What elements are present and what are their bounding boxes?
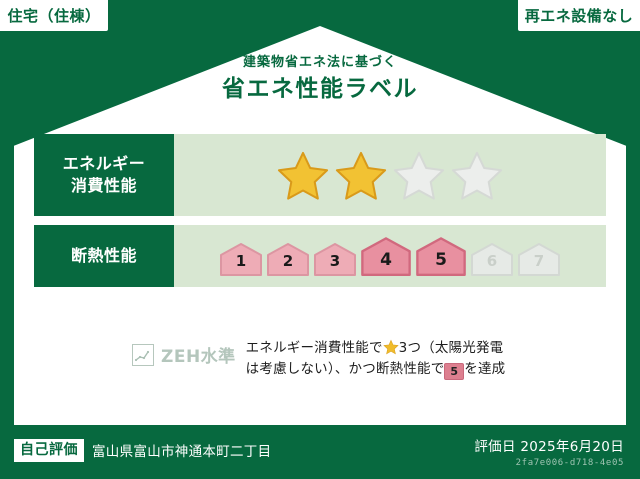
star-empty-icon xyxy=(449,148,505,202)
label-footer: 自己評価 富山県富山市神通本町二丁目 評価日 2025年6月20日 2fa7e0… xyxy=(0,425,640,479)
footer-right-group: 評価日 2025年6月20日 2fa7e006-d718-4e05 xyxy=(474,435,624,468)
insulation-grade-number: 5 xyxy=(435,252,447,273)
zeh-description-line2: は考慮しない）、かつ断熱性能で5を達成 xyxy=(246,359,506,380)
insulation-performance-row: 断熱性能 1234567 xyxy=(34,225,606,287)
inline-star-icon xyxy=(383,339,399,355)
chart-line-icon xyxy=(132,344,154,366)
performance-rows: エネルギー 消費性能 断熱性能 1234567 xyxy=(34,134,606,296)
insulation-grade-number: 3 xyxy=(330,254,340,273)
zeh-label: ZEH水準 xyxy=(161,342,236,367)
energy-label-line2: 消費性能 xyxy=(63,175,146,197)
zeh-note: ZEH水準 エネルギー消費性能で3つ（太陽光発電 は考慮しない）、かつ断熱性能で… xyxy=(34,336,606,380)
zeh-desc-line2-pre: は考慮しない）、かつ断熱性能で xyxy=(246,361,445,377)
insulation-grade-badge: 6 xyxy=(470,242,514,276)
energy-performance-row: エネルギー 消費性能 xyxy=(34,134,606,216)
insulation-grade-number: 1 xyxy=(236,254,246,273)
star-filled-icon xyxy=(333,148,389,202)
inline-grade-badge: 5 xyxy=(444,363,464,380)
energy-performance-label: エネルギー 消費性能 xyxy=(34,134,174,216)
zeh-description: エネルギー消費性能で3つ（太陽光発電 は考慮しない）、かつ断熱性能で5を達成 xyxy=(246,336,506,380)
property-address: 富山県富山市神通本町二丁目 xyxy=(92,440,271,460)
insulation-grade-badge: 4 xyxy=(360,236,412,276)
insulation-grade-number: 7 xyxy=(534,254,544,273)
star-rating xyxy=(275,148,505,202)
zeh-desc-line2-post: を達成 xyxy=(464,361,505,377)
zeh-description-line1: エネルギー消費性能で3つ（太陽光発電 xyxy=(246,338,506,359)
zeh-desc-line1-pre: エネルギー消費性能で xyxy=(246,340,383,356)
energy-label-line1: エネルギー xyxy=(63,153,146,175)
evaluation-date: 評価日 2025年6月20日 xyxy=(474,435,624,455)
insulation-grade-scale: 1234567 xyxy=(219,236,561,276)
insulation-grade-number: 4 xyxy=(380,252,392,273)
insulation-performance-value: 1234567 xyxy=(174,225,606,287)
insulation-grade-number: 2 xyxy=(283,254,293,273)
footer-left-group: 自己評価 富山県富山市神通本町二丁目 xyxy=(14,439,271,462)
energy-performance-value xyxy=(174,134,606,216)
insulation-performance-label: 断熱性能 xyxy=(34,225,174,287)
insulation-grade-number: 6 xyxy=(487,254,497,273)
renewable-equipment-tag: 再エネ設備なし xyxy=(518,0,640,31)
star-filled-icon xyxy=(275,148,331,202)
document-id: 2fa7e006-d718-4e05 xyxy=(474,458,624,468)
insulation-grade-badge: 2 xyxy=(266,242,310,276)
star-empty-icon xyxy=(391,148,447,202)
insulation-grade-badge: 3 xyxy=(313,242,357,276)
energy-label-root: 住宅（住棟） 再エネ設備なし 建築物省エネ法に基づく 省エネ性能ラベル エネルギ… xyxy=(0,0,640,479)
insulation-grade-badge: 5 xyxy=(415,236,467,276)
insulation-grade-badge: 1 xyxy=(219,242,263,276)
zeh-mark: ZEH水準 xyxy=(34,336,236,367)
zeh-desc-line1-post: 3つ（太陽光発電 xyxy=(399,340,504,356)
self-evaluation-badge: 自己評価 xyxy=(14,439,84,462)
insulation-grade-badge: 7 xyxy=(517,242,561,276)
building-type-tag: 住宅（住棟） xyxy=(0,0,108,31)
